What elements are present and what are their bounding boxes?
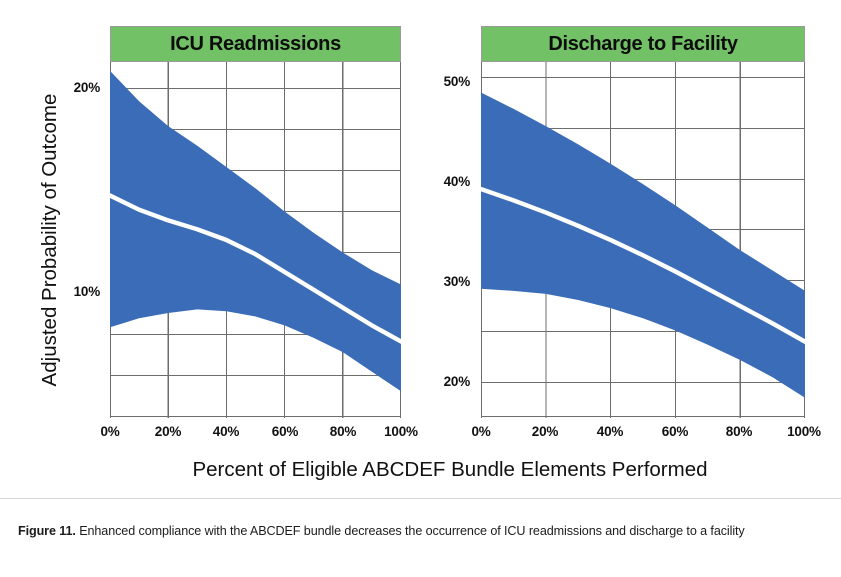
y-tick-left-0: 20% [50, 80, 100, 95]
x-tick-left-4: 80% [313, 424, 373, 439]
x-tick-left-5: 100% [369, 424, 433, 439]
x-tick-left-2: 40% [196, 424, 256, 439]
x-tick-left-0: 0% [80, 424, 140, 439]
panel-title-discharge-to-facility: Discharge to Facility [481, 26, 805, 62]
x-tick-right-3: 60% [645, 424, 705, 439]
x-tick-left-3: 60% [255, 424, 315, 439]
y-tick-right-3: 20% [420, 374, 470, 389]
figure-caption-area: Figure 11. Enhanced compliance with the … [0, 498, 841, 577]
x-tick-right-5: 100% [772, 424, 836, 439]
y-tick-right-1: 40% [420, 174, 470, 189]
plot-area-discharge-to-facility [481, 62, 805, 418]
panel-title-icu-readmissions: ICU Readmissions [110, 26, 401, 62]
x-tick-right-4: 80% [709, 424, 769, 439]
confidence-band-discharge [481, 93, 805, 398]
x-tick-right-2: 40% [580, 424, 640, 439]
x-tick-left-1: 20% [138, 424, 198, 439]
y-tick-right-0: 50% [420, 74, 470, 89]
caption-divider [0, 498, 841, 499]
plot-svg-discharge-to-facility [481, 62, 805, 418]
plot-svg-icu-readmissions [110, 62, 401, 418]
x-tick-right-1: 20% [515, 424, 575, 439]
confidence-band-icu-fill [110, 71, 401, 391]
plot-area-icu-readmissions [110, 62, 401, 418]
figure-panel: Adjusted Probability of Outcome ICU Read… [0, 0, 841, 498]
x-axis-title: Percent of Eligible ABCDEF Bundle Elemen… [70, 458, 830, 482]
x-tick-right-0: 0% [451, 424, 511, 439]
figure-caption-text: Enhanced compliance with the ABCDEF bund… [76, 524, 745, 538]
figure-caption: Figure 11. Enhanced compliance with the … [18, 522, 824, 541]
y-tick-right-2: 30% [420, 274, 470, 289]
y-tick-left-1: 10% [50, 284, 100, 299]
figure-caption-label: Figure 11. [18, 524, 76, 538]
